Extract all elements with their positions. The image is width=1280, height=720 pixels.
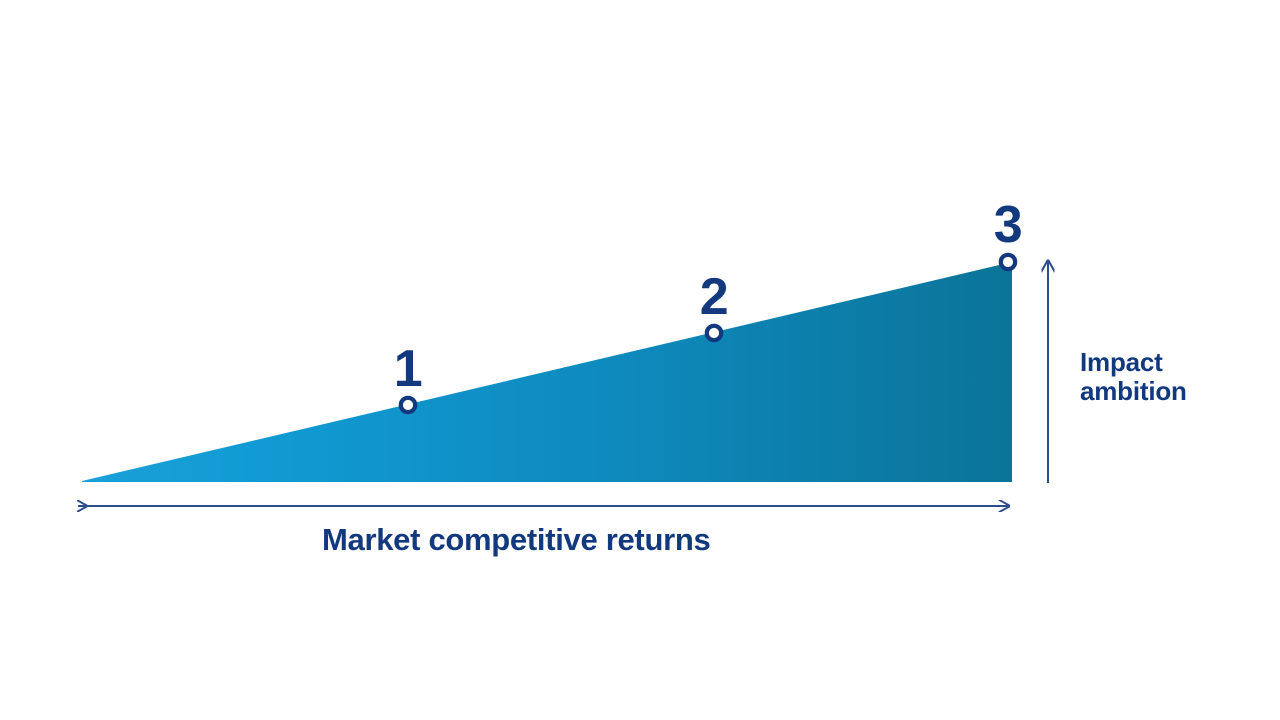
y-axis-title-line-1: Impact: [1080, 348, 1187, 377]
x-axis-title: Market competitive returns: [322, 524, 710, 555]
milestone-marker-1[interactable]: [401, 398, 415, 412]
y-axis-title: Impact ambition: [1080, 348, 1187, 406]
milestone-marker-2[interactable]: [707, 326, 721, 340]
milestone-label-1: 1: [378, 343, 438, 395]
milestone-marker-3[interactable]: [1001, 255, 1015, 269]
milestone-label-2: 2: [684, 271, 744, 323]
milestone-label-3: 3: [978, 199, 1038, 251]
impact-ambition-wedge: [82, 262, 1012, 482]
y-axis-title-line-2: ambition: [1080, 377, 1187, 406]
impact-ambition-chart: 1 2 3 Market competitive returns Impact …: [0, 0, 1280, 720]
